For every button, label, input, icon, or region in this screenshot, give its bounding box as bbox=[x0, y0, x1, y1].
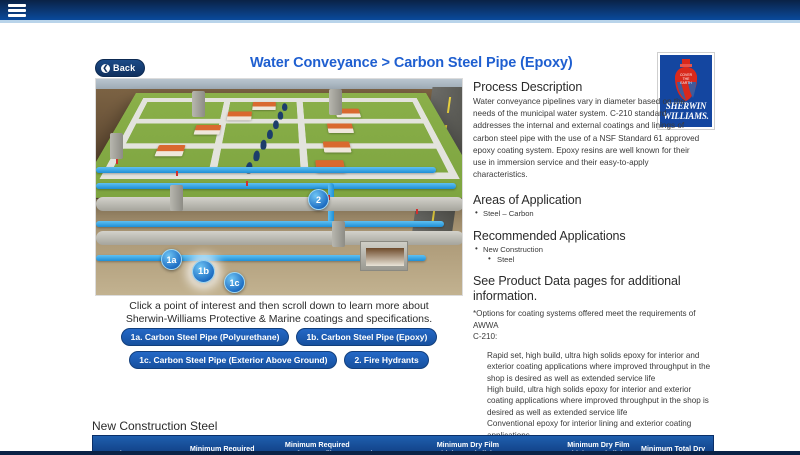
recommended-applications-heading: Recommended Applications bbox=[473, 229, 713, 243]
poi-button-1b[interactable]: 1b. Carbon Steel Pipe (Epoxy) bbox=[296, 328, 437, 346]
recommended-applications-list: New Construction Steel bbox=[473, 245, 713, 266]
house bbox=[252, 102, 276, 110]
back-button[interactable]: ❮ Back bbox=[95, 59, 145, 77]
process-description-body: Water conveyance pipelines vary in diame… bbox=[473, 96, 705, 181]
water-conveyance-illustration[interactable]: 2 1a 1b 1c bbox=[95, 78, 463, 296]
poi-marker-1c[interactable]: 1c bbox=[224, 272, 245, 293]
page-content: ❮ Back Water Conveyance > Carbon Steel P… bbox=[0, 23, 784, 455]
manhole-riser bbox=[110, 133, 123, 159]
poi-button-group: 1a. Carbon Steel Pipe (Polyurethane) 1b.… bbox=[95, 328, 463, 369]
list-item-sub: Steel bbox=[473, 255, 713, 266]
concrete-conduit bbox=[96, 197, 463, 211]
right-gutter bbox=[784, 23, 800, 455]
list-item: New Construction bbox=[473, 245, 713, 256]
process-description-heading: Process Description bbox=[473, 80, 713, 94]
areas-of-application-heading: Areas of Application bbox=[473, 193, 713, 207]
top-navigation-bar bbox=[0, 0, 800, 20]
list-item: Steel – Carbon bbox=[473, 209, 713, 220]
coating-options-list: Rapid set, high build, ultra high solids… bbox=[473, 350, 713, 441]
poi-button-1c[interactable]: 1c. Carbon Steel Pipe (Exterior Above Gr… bbox=[129, 351, 337, 369]
hamburger-bar bbox=[8, 14, 26, 17]
concrete-vault bbox=[360, 241, 408, 271]
info-panel: Process Description Water conveyance pip… bbox=[473, 80, 713, 441]
illustration-caption: Click a point of interest and then scrol… bbox=[95, 300, 463, 326]
poi-marker-1a[interactable]: 1a bbox=[161, 249, 182, 270]
app-root: ❮ Back Water Conveyance > Carbon Steel P… bbox=[0, 0, 800, 455]
hamburger-menu-icon[interactable] bbox=[6, 3, 28, 18]
manhole-riser bbox=[329, 89, 342, 115]
see-product-data-line-2: information. bbox=[473, 290, 713, 303]
page-title: Water Conveyance > Carbon Steel Pipe (Ep… bbox=[250, 55, 550, 71]
manhole-riser bbox=[332, 221, 345, 247]
poi-marker-2[interactable]: 2 bbox=[308, 189, 329, 210]
house bbox=[227, 112, 252, 121]
manhole-riser bbox=[170, 185, 183, 211]
hamburger-bar bbox=[8, 9, 26, 12]
table-title: New Construction Steel bbox=[92, 419, 217, 433]
house bbox=[194, 125, 222, 135]
caption-line-2: Sherwin-Williams Protective & Marine coa… bbox=[95, 313, 463, 326]
arrow-left-circle-icon: ❮ bbox=[101, 64, 110, 73]
coating-option: Rapid set, high build, ultra high solids… bbox=[487, 350, 713, 384]
house bbox=[323, 142, 352, 153]
poi-button-2[interactable]: 2. Fire Hydrants bbox=[344, 351, 428, 369]
manhole-riser bbox=[192, 91, 205, 117]
areas-of-application-list: Steel – Carbon bbox=[473, 209, 713, 220]
house bbox=[154, 145, 185, 156]
caption-line-1: Click a point of interest and then scrol… bbox=[95, 300, 463, 313]
water-pipe bbox=[96, 221, 444, 227]
water-pipe bbox=[96, 183, 456, 189]
water-pipe bbox=[96, 167, 436, 173]
hamburger-bar bbox=[8, 4, 26, 7]
coating-option: High build, ultra high solids epoxy for … bbox=[487, 384, 713, 418]
bottom-bar bbox=[0, 451, 800, 455]
see-product-data-line-1: See Product Data pages for additional bbox=[473, 275, 713, 288]
options-note-line-2: C-210: bbox=[473, 331, 713, 343]
poi-button-1a[interactable]: 1a. Carbon Steel Pipe (Polyurethane) bbox=[121, 328, 290, 346]
options-note-line-1: *Options for coating systems offered mee… bbox=[473, 308, 713, 331]
house bbox=[327, 123, 354, 133]
back-button-label: Back bbox=[113, 63, 135, 73]
poi-marker-1b[interactable]: 1b bbox=[192, 260, 215, 283]
